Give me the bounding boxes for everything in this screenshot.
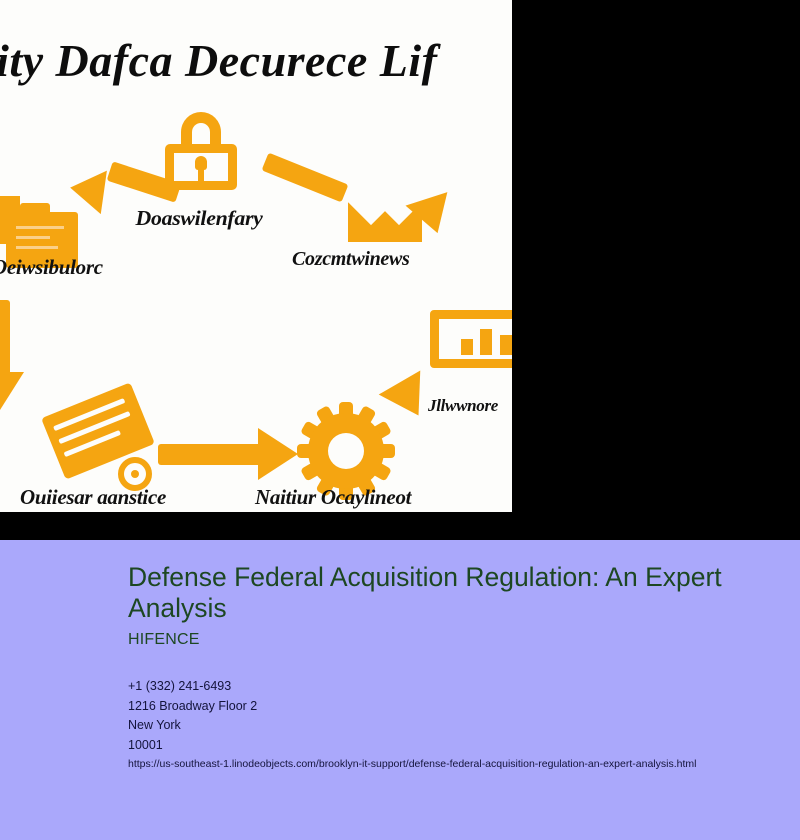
contact-phone: +1 (332) 241-6493	[128, 677, 257, 697]
hero-media-band: uity Dafca Decurece Lif	[0, 0, 800, 540]
gear-icon	[300, 405, 392, 497]
contact-city: New York	[128, 716, 257, 736]
contact-block: +1 (332) 241-6493 1216 Broadway Floor 2 …	[128, 677, 257, 756]
source-url-link[interactable]: https://us-southeast-1.linodeobjects.com…	[128, 758, 696, 770]
diagram-label-contract: Ouiiesar aanstice	[20, 485, 166, 510]
arrow-head-right	[258, 428, 298, 480]
security-lifecycle-diagram-image: uity Dafca Decurece Lif	[0, 0, 512, 512]
diagram-label-deliverables: Oeiwsibulorc	[0, 255, 103, 280]
arrow-head-left	[67, 166, 107, 214]
contact-street: 1216 Broadway Floor 2	[128, 697, 257, 717]
diagram-label-documentary: Doaswilenfary	[136, 206, 263, 231]
arrow-head-down-left	[0, 372, 24, 410]
monitor-icon	[430, 310, 512, 368]
diagram-label-compliance: Naitiur Ocaylineot	[255, 485, 411, 510]
diagram-label-communications: Cozcmtwinews	[292, 248, 410, 271]
arrow-to-gear	[158, 444, 268, 465]
info-panel: Defense Federal Acquisition Regulation: …	[0, 540, 800, 840]
page-title: Defense Federal Acquisition Regulation: …	[128, 562, 768, 625]
diagram-label-assurance: Jllwwnore	[428, 396, 498, 416]
lock-icon	[165, 112, 237, 190]
arrow-down-left	[0, 300, 10, 380]
diagram-heading: uity Dafca Decurece Lif	[0, 34, 512, 87]
brand-name: HIFENCE	[128, 631, 200, 649]
arrow-to-communications	[262, 153, 349, 203]
contact-postal-code: 10001	[128, 736, 257, 756]
